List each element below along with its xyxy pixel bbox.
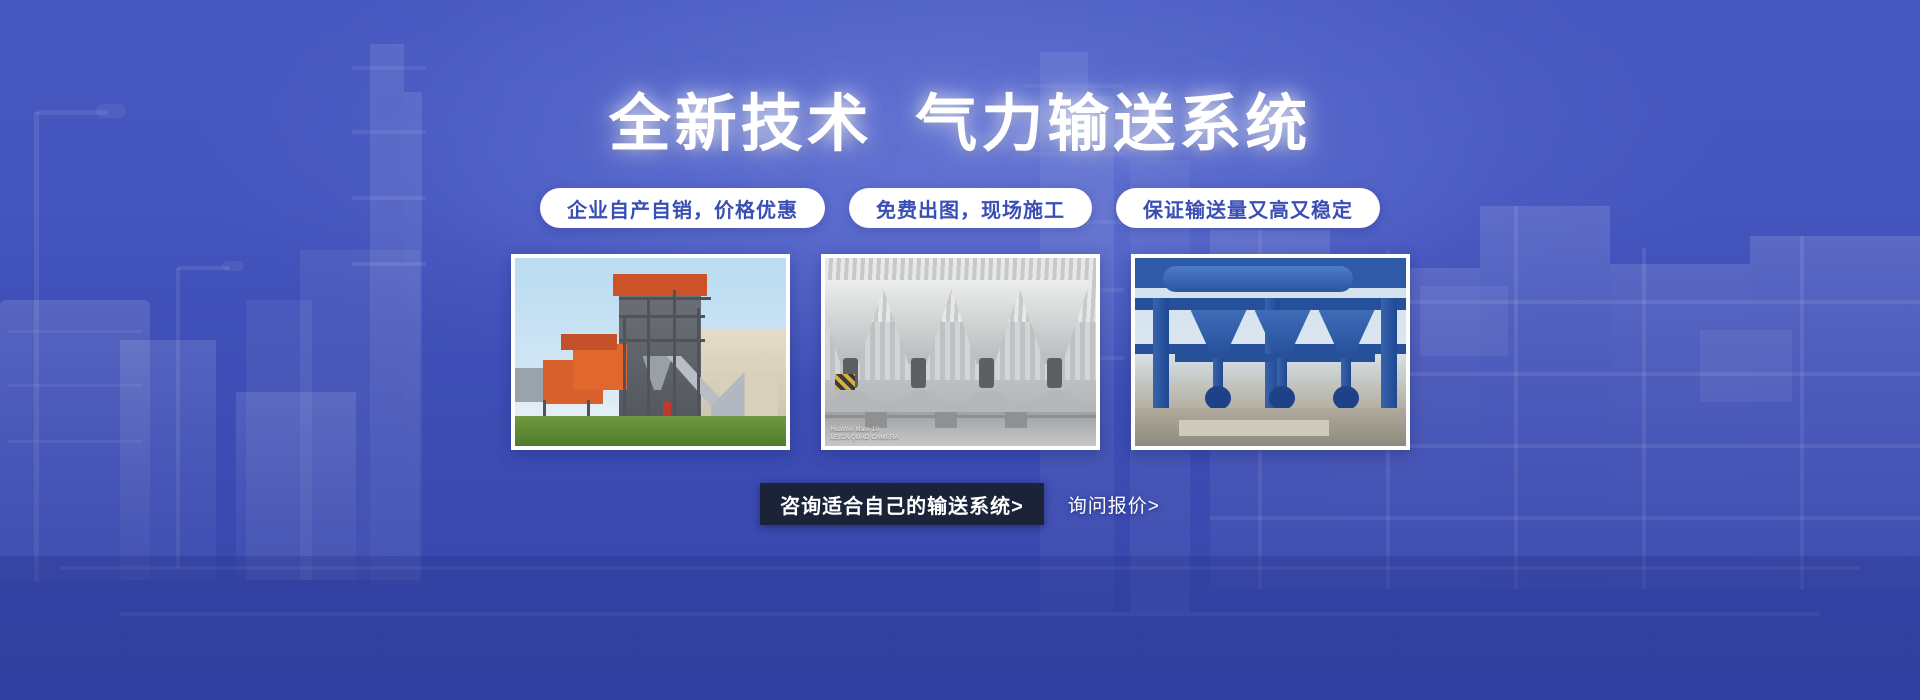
feature-tag-1: 企业自产自销，价格优惠 xyxy=(540,188,825,228)
photo-watermark: HuaWei Mate 10 LEICA QUAD CAMERA xyxy=(831,426,899,442)
photo-gallery: HuaWei Mate 10 LEICA QUAD CAMERA xyxy=(0,254,1920,450)
feature-tag-2: 免费出图，现场施工 xyxy=(849,188,1092,228)
promo-banner: 全新技术 气力输送系统 企业自产自销，价格优惠 免费出图，现场施工 保证输送量又… xyxy=(0,0,1920,700)
blue-steel-structure-photo[interactable] xyxy=(1131,254,1410,450)
outdoor-plant-photo[interactable] xyxy=(511,254,790,450)
feature-tag-list: 企业自产自销，价格优惠 免费出图，现场施工 保证输送量又高又稳定 xyxy=(0,188,1920,228)
consult-system-button[interactable]: 咨询适合自己的输送系统> xyxy=(760,483,1044,525)
indoor-hoppers-photo[interactable]: HuaWei Mate 10 LEICA QUAD CAMERA xyxy=(821,254,1100,450)
page-title: 全新技术 气力输送系统 xyxy=(0,92,1920,158)
cta-row: 咨询适合自己的输送系统> 询问报价> xyxy=(0,483,1920,525)
feature-tag-3: 保证输送量又高又稳定 xyxy=(1116,188,1380,228)
request-quote-link[interactable]: 询问报价> xyxy=(1068,483,1160,525)
